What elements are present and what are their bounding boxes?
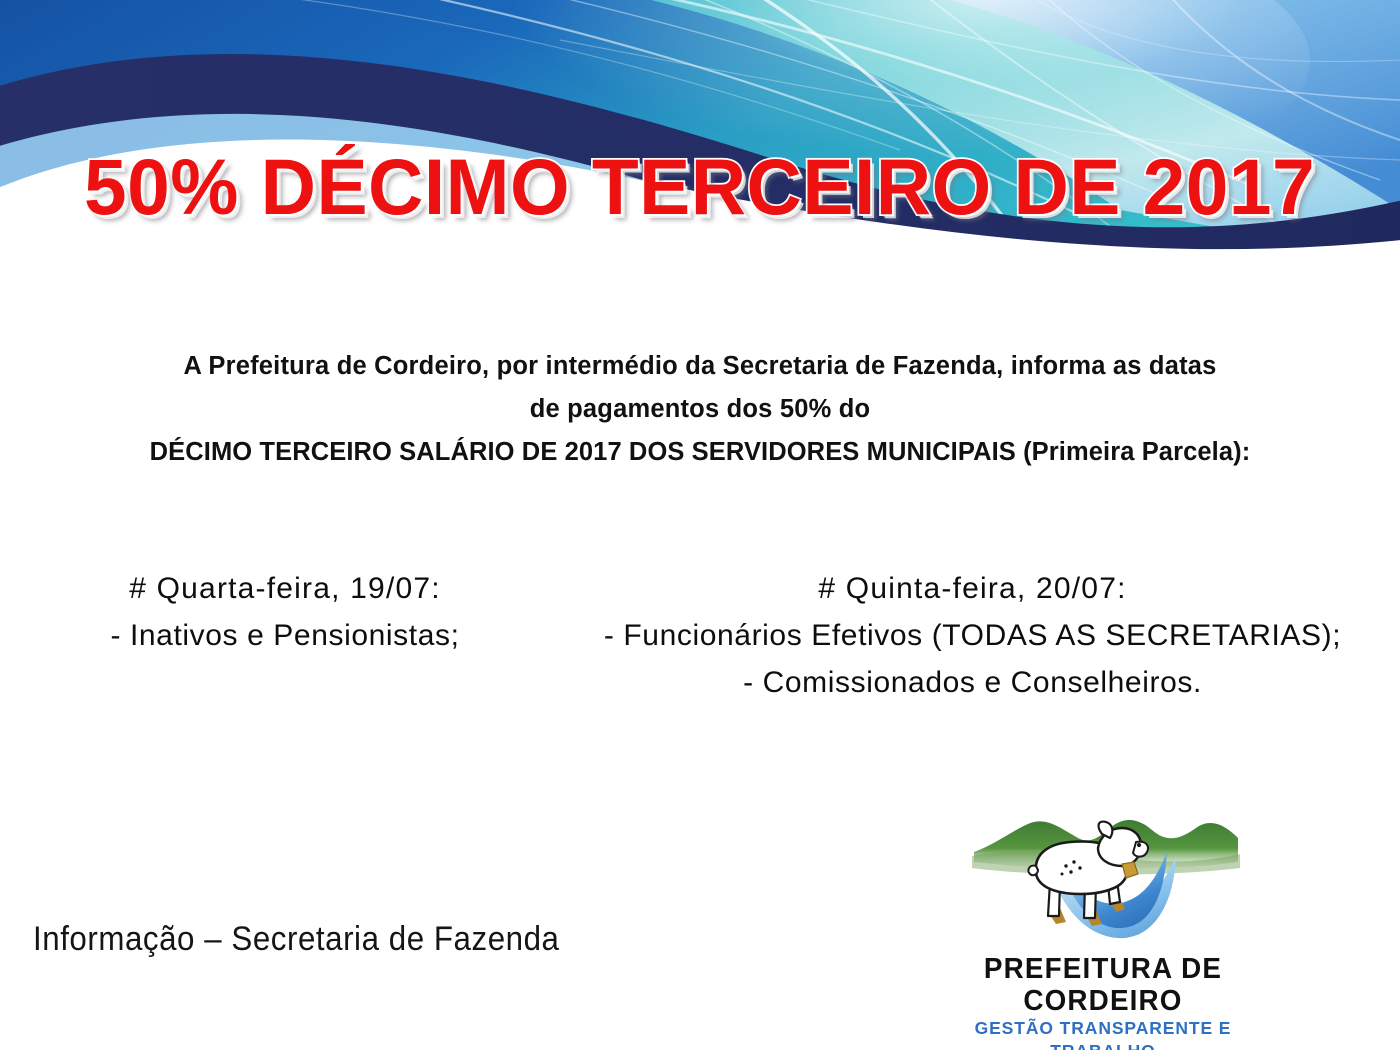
- prefeitura-logo: PREFEITURA DE CORDEIRO GESTÃO TRANSPAREN…: [938, 808, 1268, 1033]
- schedule-heading-thursday: # Quinta-feira, 20/07:: [545, 565, 1400, 612]
- logo-title: PREFEITURA DE CORDEIRO: [945, 953, 1262, 1017]
- intro-paragraph: A Prefeitura de Cordeiro, por intermédio…: [0, 345, 1400, 474]
- page-title: 50% DÉCIMO TERCEIRO DE 2017: [84, 148, 1315, 225]
- schedule-item-thursday-2: - Comissionados e Conselheiros.: [545, 659, 1400, 706]
- poster-title-container: 50% DÉCIMO TERCEIRO DE 2017: [0, 148, 1400, 225]
- lamb-over-water-icon: [938, 808, 1268, 953]
- poster-canvas: 50% DÉCIMO TERCEIRO DE 2017 A Prefeitura…: [0, 0, 1400, 1050]
- logo-tagline-line-1: GESTÃO TRANSPARENTE E TRABALHO: [938, 1017, 1268, 1050]
- schedule-column-wednesday: # Quarta-feira, 19/07: - Inativos e Pens…: [30, 565, 540, 659]
- payment-schedule: # Quarta-feira, 19/07: - Inativos e Pens…: [0, 565, 1400, 725]
- schedule-column-thursday: # Quinta-feira, 20/07: - Funcionários Ef…: [545, 565, 1400, 706]
- intro-line-1: A Prefeitura de Cordeiro, por intermédio…: [0, 345, 1400, 388]
- schedule-item-wednesday-1: - Inativos e Pensionistas;: [30, 612, 540, 659]
- information-footnote: Informação – Secretaria de Fazenda: [33, 920, 559, 959]
- schedule-item-thursday-1: - Funcionários Efetivos (TODAS AS SECRET…: [545, 612, 1400, 659]
- intro-line-2: de pagamentos dos 50% do: [0, 388, 1400, 431]
- intro-line-3: DÉCIMO TERCEIRO SALÁRIO DE 2017 DOS SERV…: [0, 431, 1400, 474]
- schedule-heading-wednesday: # Quarta-feira, 19/07:: [30, 565, 540, 612]
